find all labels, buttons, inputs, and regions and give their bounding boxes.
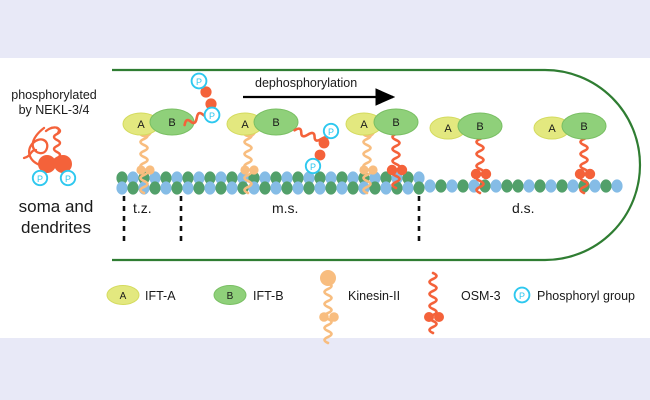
ift-b-letter: B <box>392 117 399 129</box>
soma-folded-osm3: P P <box>24 127 75 185</box>
svg-text:P: P <box>65 174 71 184</box>
phosphoryl-icon: P <box>192 74 207 89</box>
svg-text:P: P <box>519 291 525 301</box>
legend-glyph-phosphoryl: P <box>515 288 530 303</box>
soma-label-line-2: dendrites <box>0 217 112 238</box>
zone-label-distal-segment: d.s. <box>512 200 535 216</box>
legend-glyph-kinesin-ii <box>319 270 339 343</box>
svg-text:A: A <box>120 291 127 302</box>
legend-label-osm-3: OSM-3 <box>461 289 501 303</box>
ift-b-letter: B <box>476 121 483 133</box>
mt-doublet-row-lower <box>116 181 424 194</box>
microtubule-singlet <box>424 179 622 192</box>
svg-text:P: P <box>328 127 334 137</box>
caption-line-1: phosphorylated <box>0 88 108 103</box>
legend-label-kinesin-ii: Kinesin-II <box>348 289 400 303</box>
phosphoryl-icon: P <box>324 124 338 138</box>
soma-label-line-1: soma and <box>0 196 112 217</box>
zone-label-middle-segment: m.s. <box>272 200 298 216</box>
ift-b-letter: B <box>580 121 587 133</box>
free-phosphorylated-osm3-tz: P P <box>183 74 219 128</box>
zone-label-transition-zone: t.z. <box>133 200 152 216</box>
phosphoryl-icon: P <box>61 171 75 185</box>
legend-glyph-ift-a: A <box>107 286 139 305</box>
phosphorylation-caption: phosphorylated by NEKL-3/4 <box>0 88 108 118</box>
svg-text:P: P <box>209 111 215 121</box>
dephosphorylation-label: dephosphorylation <box>255 76 357 90</box>
microtubule-doublet <box>116 171 424 194</box>
mt-doublet-row-upper <box>116 171 424 184</box>
caption-line-2: by NEKL-3/4 <box>0 103 108 118</box>
legend-glyph-osm-3 <box>424 273 444 333</box>
ift-a-letter: A <box>360 119 368 131</box>
legend-label-ift-b: IFT-B <box>253 289 284 303</box>
cilium-membrane-outline <box>112 70 640 260</box>
svg-text:P: P <box>196 77 202 87</box>
ift-b-letter: B <box>272 117 279 129</box>
svg-text:B: B <box>227 291 234 302</box>
ift-a-letter: A <box>548 123 556 135</box>
phosphoryl-icon: P <box>205 108 220 123</box>
soma-dendrites-label: soma and dendrites <box>0 196 112 238</box>
legend-label-ift-a: IFT-A <box>145 289 176 303</box>
legend-glyph-ift-b: B <box>214 286 246 305</box>
svg-text:P: P <box>37 174 43 184</box>
free-phosphorylated-osm3-ms: P P <box>294 124 339 173</box>
phosphoryl-icon: P <box>306 159 320 173</box>
ift-a-letter: A <box>444 123 452 135</box>
ift-b-letter: B <box>168 117 175 129</box>
legend-label-phosphoryl: Phosphoryl group <box>537 289 635 303</box>
svg-text:P: P <box>310 162 316 172</box>
ift-a-letter: A <box>137 119 145 131</box>
ift-a-letter: A <box>241 119 249 131</box>
phosphoryl-icon: P <box>33 171 47 185</box>
